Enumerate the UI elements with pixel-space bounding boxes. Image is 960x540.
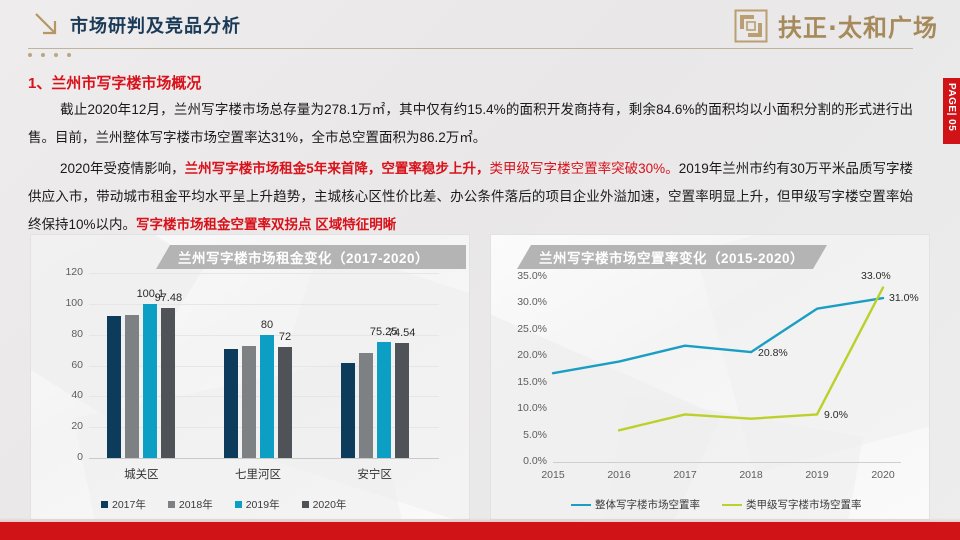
bar xyxy=(377,342,391,458)
legend-label: 2019年 xyxy=(246,497,280,512)
y-axis-tick: 40 xyxy=(45,389,83,401)
rent-chart-title: 兰州写字楼市场租金变化（2017-2020） xyxy=(156,245,466,269)
y-axis-tick: 100 xyxy=(45,297,83,309)
brand-name: 扶正·太和广场 xyxy=(778,8,938,43)
y-axis-tick: 5.0% xyxy=(497,429,547,441)
x-axis-tick: 2018 xyxy=(727,469,775,481)
data-point-label: 31.0% xyxy=(889,292,919,304)
paragraph-1: 截止2020年12月，兰州写字楼市场总存量为278.1万㎡，其中仅有约15.4%… xyxy=(28,96,913,152)
y-axis-tick: 0.0% xyxy=(497,455,547,467)
legend-label: 2018年 xyxy=(179,497,213,512)
page-title: 市场研判及竞品分析 xyxy=(70,12,241,38)
legend-swatch xyxy=(168,501,175,508)
legend-item[interactable]: 2018年 xyxy=(168,497,213,512)
y-axis-tick: 0 xyxy=(45,451,83,463)
bar xyxy=(107,316,121,458)
brand-logo: 扶正·太和广场 xyxy=(734,8,938,43)
y-axis-tick: 120 xyxy=(45,266,83,278)
x-axis-category-label: 安宁区 xyxy=(321,466,429,482)
legend-label: 2017年 xyxy=(112,497,146,512)
rent-chart-legend: 2017年2018年2019年2020年 xyxy=(101,497,346,512)
y-axis-tick: 30.0% xyxy=(497,296,547,308)
legend-item[interactable]: 类甲级写字楼市场空置率 xyxy=(722,497,862,512)
legend-swatch xyxy=(235,501,242,508)
legend-item[interactable]: 2019年 xyxy=(235,497,280,512)
x-axis-tick: 2019 xyxy=(793,469,841,481)
y-axis-tick: 20 xyxy=(45,420,83,432)
bar xyxy=(224,349,238,458)
y-axis-tick: 10.0% xyxy=(497,402,547,414)
bar xyxy=(341,363,355,458)
y-axis-tick: 35.0% xyxy=(497,270,547,282)
bar xyxy=(242,346,256,458)
paragraph-2-lead: 2020年受疫情影响， xyxy=(60,161,185,176)
bar xyxy=(359,353,373,458)
data-point-label: 20.8% xyxy=(758,347,788,359)
gridline xyxy=(89,273,439,274)
seal-square-icon xyxy=(734,9,768,43)
legend-label: 2020年 xyxy=(313,497,347,512)
y-axis-tick: 25.0% xyxy=(497,323,547,335)
slide-header: 市场研判及竞品分析 扶正·太和广场 xyxy=(0,0,960,60)
y-axis-tick: 15.0% xyxy=(497,376,547,388)
bar xyxy=(278,347,292,458)
legend-label: 类甲级写字楼市场空置率 xyxy=(746,497,862,512)
bar xyxy=(125,315,139,458)
y-axis-tick: 20.0% xyxy=(497,349,547,361)
paragraph-2-highlight-1: 兰州写字楼市场租金5年来首降，空置率稳步上升， xyxy=(185,161,490,176)
page-number-tab: PAGE| 05 xyxy=(943,78,960,144)
bar xyxy=(395,343,409,458)
data-point-label: 9.0% xyxy=(824,409,848,421)
bar-value-label: 72 xyxy=(266,331,304,343)
bar-value-label: 80 xyxy=(248,319,286,331)
rent-chart-panel: 兰州写字楼市场租金变化（2017-2020） 02040608010012010… xyxy=(30,234,470,520)
legend-item[interactable]: 2017年 xyxy=(101,497,146,512)
x-axis-category-label: 七里河区 xyxy=(204,466,312,482)
data-point-label: 33.0% xyxy=(861,270,891,282)
y-axis-tick: 60 xyxy=(45,359,83,371)
bar-value-label: 97.48 xyxy=(149,292,187,304)
x-axis-line xyxy=(553,462,901,463)
legend-item[interactable]: 整体写字楼市场空置率 xyxy=(571,497,700,512)
legend-swatch xyxy=(101,501,108,508)
paragraph-2-mid: 类甲级写字楼空置率突破30%。 xyxy=(490,161,679,176)
legend-swatch xyxy=(302,501,309,508)
legend-item[interactable]: 2020年 xyxy=(302,497,347,512)
x-axis-tick: 2015 xyxy=(529,469,577,481)
arrow-down-right-icon xyxy=(34,12,60,38)
gridline xyxy=(89,304,439,305)
x-axis-tick: 2016 xyxy=(595,469,643,481)
slide-root: 市场研判及竞品分析 扶正·太和广场 PAGE| 05 1、兰州市写字楼市场概况 … xyxy=(0,0,960,540)
y-axis-tick: 80 xyxy=(45,328,83,340)
bar xyxy=(143,304,157,458)
legend-line-swatch xyxy=(722,504,742,506)
bar-value-label: 74.54 xyxy=(383,327,421,339)
gridline xyxy=(89,458,439,459)
bar xyxy=(161,308,175,458)
bar xyxy=(260,335,274,458)
header-dots xyxy=(28,53,71,57)
header-divider xyxy=(28,48,913,49)
bottom-bar xyxy=(0,522,960,540)
paragraph-2-highlight-2: 写字楼市场租金空置率双拐点 区域特征明晰 xyxy=(136,217,396,232)
legend-line-swatch xyxy=(571,504,591,506)
vacancy-chart-legend: 整体写字楼市场空置率类甲级写字楼市场空置率 xyxy=(571,497,862,512)
vacancy-chart-title: 兰州写字楼市场空置率变化（2015-2020） xyxy=(517,245,827,269)
vacancy-chart-panel: 兰州写字楼市场空置率变化（2015-2020） 0.0%5.0%10.0%15.… xyxy=(490,234,930,520)
page-number-label: PAGE| 05 xyxy=(946,83,957,131)
paragraph-1-text: 截止2020年12月，兰州写字楼市场总存量为278.1万㎡，其中仅有约15.4%… xyxy=(28,102,913,145)
x-axis-tick: 2017 xyxy=(661,469,709,481)
section-title: 1、兰州市写字楼市场概况 xyxy=(28,72,201,93)
x-axis-tick: 2020 xyxy=(859,469,907,481)
x-axis-category-label: 城关区 xyxy=(87,466,195,482)
paragraph-2: 2020年受疫情影响，兰州写字楼市场租金5年来首降，空置率稳步上升，类甲级写字楼… xyxy=(28,155,913,239)
legend-label: 整体写字楼市场空置率 xyxy=(595,497,700,512)
